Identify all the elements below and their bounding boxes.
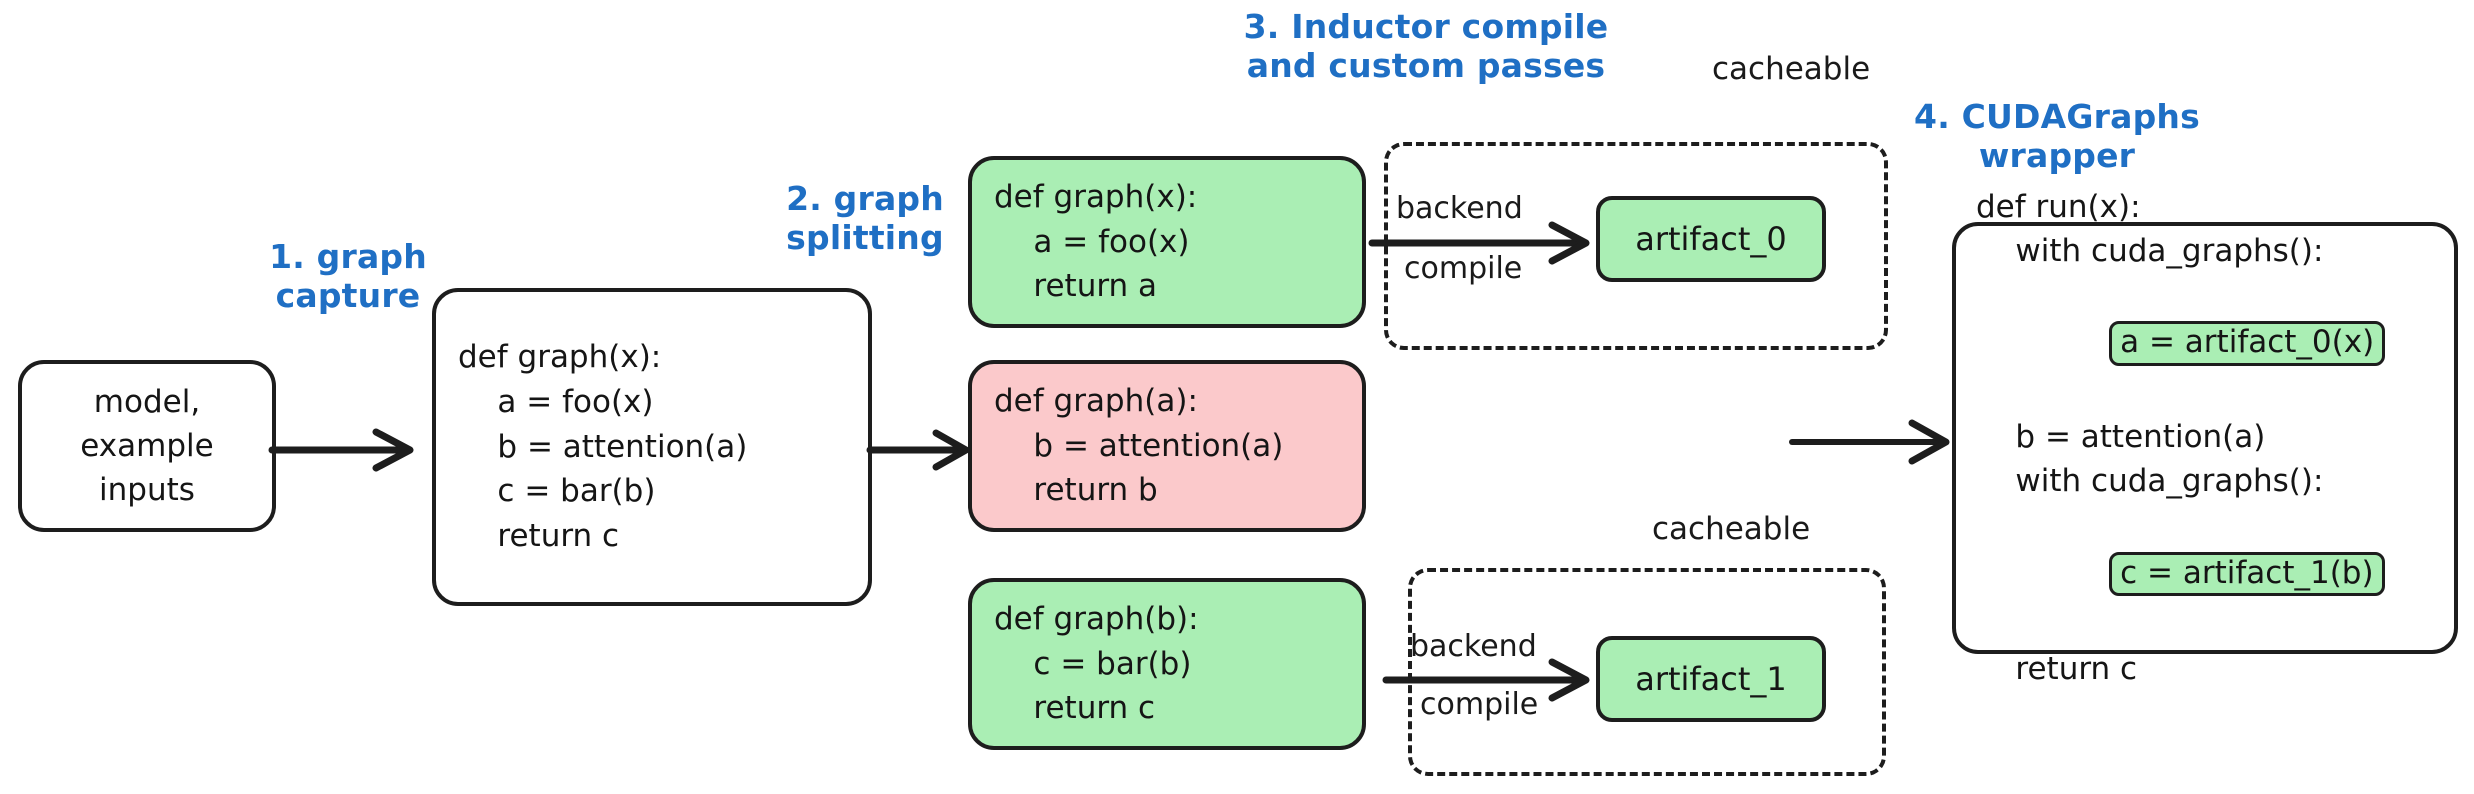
arrow-input-to-captured-graph: [268, 420, 448, 480]
node-captured-graph-line-1: def graph(x):: [436, 335, 868, 380]
step-label-inductor-compile: 3. Inductor compile and custom passes: [1216, 8, 1636, 86]
node-artifact-1-label: artifact_1: [1635, 660, 1787, 698]
highlight-artifact-1-call[interactable]: c = artifact_1(b): [2109, 552, 2384, 597]
node-runtime-wrapper[interactable]: def run(x): with cuda_graphs(): a = arti…: [1952, 222, 2458, 654]
node-subgraph-attention-line-3: return b: [972, 468, 1362, 513]
node-artifact-0-label: artifact_0: [1635, 220, 1787, 258]
node-subgraph-foo[interactable]: def graph(x): a = foo(x) return a: [968, 156, 1366, 328]
arrow-subgraph-bar-to-artifact-1: [1384, 652, 1614, 712]
node-runtime-wrapper-line-5: with cuda_graphs():: [1956, 459, 2454, 504]
node-runtime-wrapper-line-4: b = attention(a): [1956, 413, 2454, 460]
highlight-artifact-0-call[interactable]: a = artifact_0(x): [2109, 321, 2385, 366]
step-label-graph-splitting: 2. graph splitting: [760, 180, 970, 258]
node-artifact-0[interactable]: artifact_0: [1596, 196, 1826, 282]
node-subgraph-attention-line-2: b = attention(a): [972, 424, 1362, 469]
node-subgraph-foo-line-2: a = foo(x): [972, 220, 1362, 265]
node-captured-graph-line-2: a = foo(x): [436, 380, 868, 425]
step-label-graph-capture: 1. graph capture: [248, 238, 448, 316]
cacheable-label-bottom: cacheable: [1652, 512, 1810, 548]
node-runtime-wrapper-line-1: def run(x):: [1956, 185, 2454, 230]
node-subgraph-foo-line-3: return a: [972, 264, 1362, 309]
arrow-subgraph-foo-to-artifact-0: [1370, 215, 1610, 275]
diagram-canvas: 1. graph capture 2. graph splitting 3. I…: [0, 0, 2474, 794]
node-captured-graph-line-3: b = attention(a): [436, 425, 868, 470]
node-runtime-wrapper-line-6: c = artifact_1(b): [1956, 504, 2454, 643]
step-label-cudagraphs-wrapper: 4. CUDAGraphs wrapper: [1872, 98, 2242, 176]
node-captured-graph-line-4: c = bar(b): [436, 469, 868, 514]
node-subgraph-bar[interactable]: def graph(b): c = bar(b) return c: [968, 578, 1366, 750]
node-artifact-1[interactable]: artifact_1: [1596, 636, 1826, 722]
cacheable-label-top: cacheable: [1712, 52, 1870, 88]
node-model-example-inputs[interactable]: model, example inputs: [18, 360, 276, 532]
node-subgraph-bar-line-1: def graph(b):: [972, 597, 1362, 642]
node-subgraph-foo-line-1: def graph(x):: [972, 175, 1362, 220]
node-runtime-wrapper-line-7: return c: [1956, 643, 2454, 692]
node-subgraph-attention[interactable]: def graph(a): b = attention(a) return b: [968, 360, 1366, 532]
node-model-example-inputs-text: model, example inputs: [22, 380, 272, 512]
node-captured-graph[interactable]: def graph(x): a = foo(x) b = attention(a…: [432, 288, 872, 606]
node-captured-graph-line-5: return c: [436, 514, 868, 559]
node-subgraph-attention-line-1: def graph(a):: [972, 379, 1362, 424]
node-runtime-wrapper-line-2: with cuda_graphs():: [1956, 229, 2454, 274]
node-subgraph-bar-line-2: c = bar(b): [972, 642, 1362, 687]
node-runtime-wrapper-line-3: a = artifact_0(x): [1956, 274, 2454, 413]
node-subgraph-bar-line-3: return c: [972, 686, 1362, 731]
